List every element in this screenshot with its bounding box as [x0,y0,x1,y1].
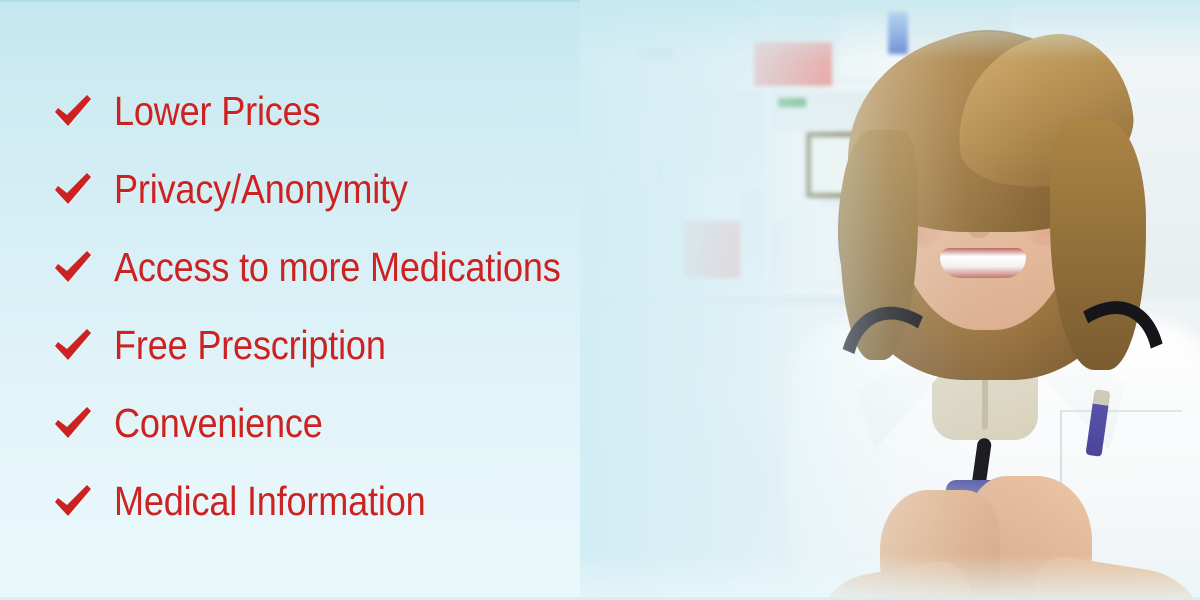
check-mark-icon [52,168,94,210]
benefit-label: Convenience [114,403,323,444]
benefit-item: Medical Information [52,462,640,540]
pharmacy-benefits-banner: Lower Prices Privacy/Anonymity Access to… [0,0,1200,600]
photo-left-fade [580,0,1200,600]
benefit-item: Free Prescription [52,306,640,384]
benefit-label: Free Prescription [114,325,386,366]
check-mark-icon [52,90,94,132]
benefit-label: Privacy/Anonymity [114,169,408,210]
benefits-list: Lower Prices Privacy/Anonymity Access to… [0,0,640,600]
check-mark-icon [52,402,94,444]
benefit-label: Lower Prices [114,91,320,132]
benefit-item: Access to more Medications [52,228,640,306]
benefit-item: Convenience [52,384,640,462]
benefit-item: Lower Prices [52,72,640,150]
benefit-label: Access to more Medications [114,247,561,288]
check-mark-icon [52,480,94,522]
pharmacist-photo [580,0,1200,600]
benefit-label: Medical Information [114,481,426,522]
check-mark-icon [52,246,94,288]
photo-bottom-fade [580,554,1200,600]
check-mark-icon [52,324,94,366]
photo-top-fade [580,0,1200,60]
benefit-item: Privacy/Anonymity [52,150,640,228]
